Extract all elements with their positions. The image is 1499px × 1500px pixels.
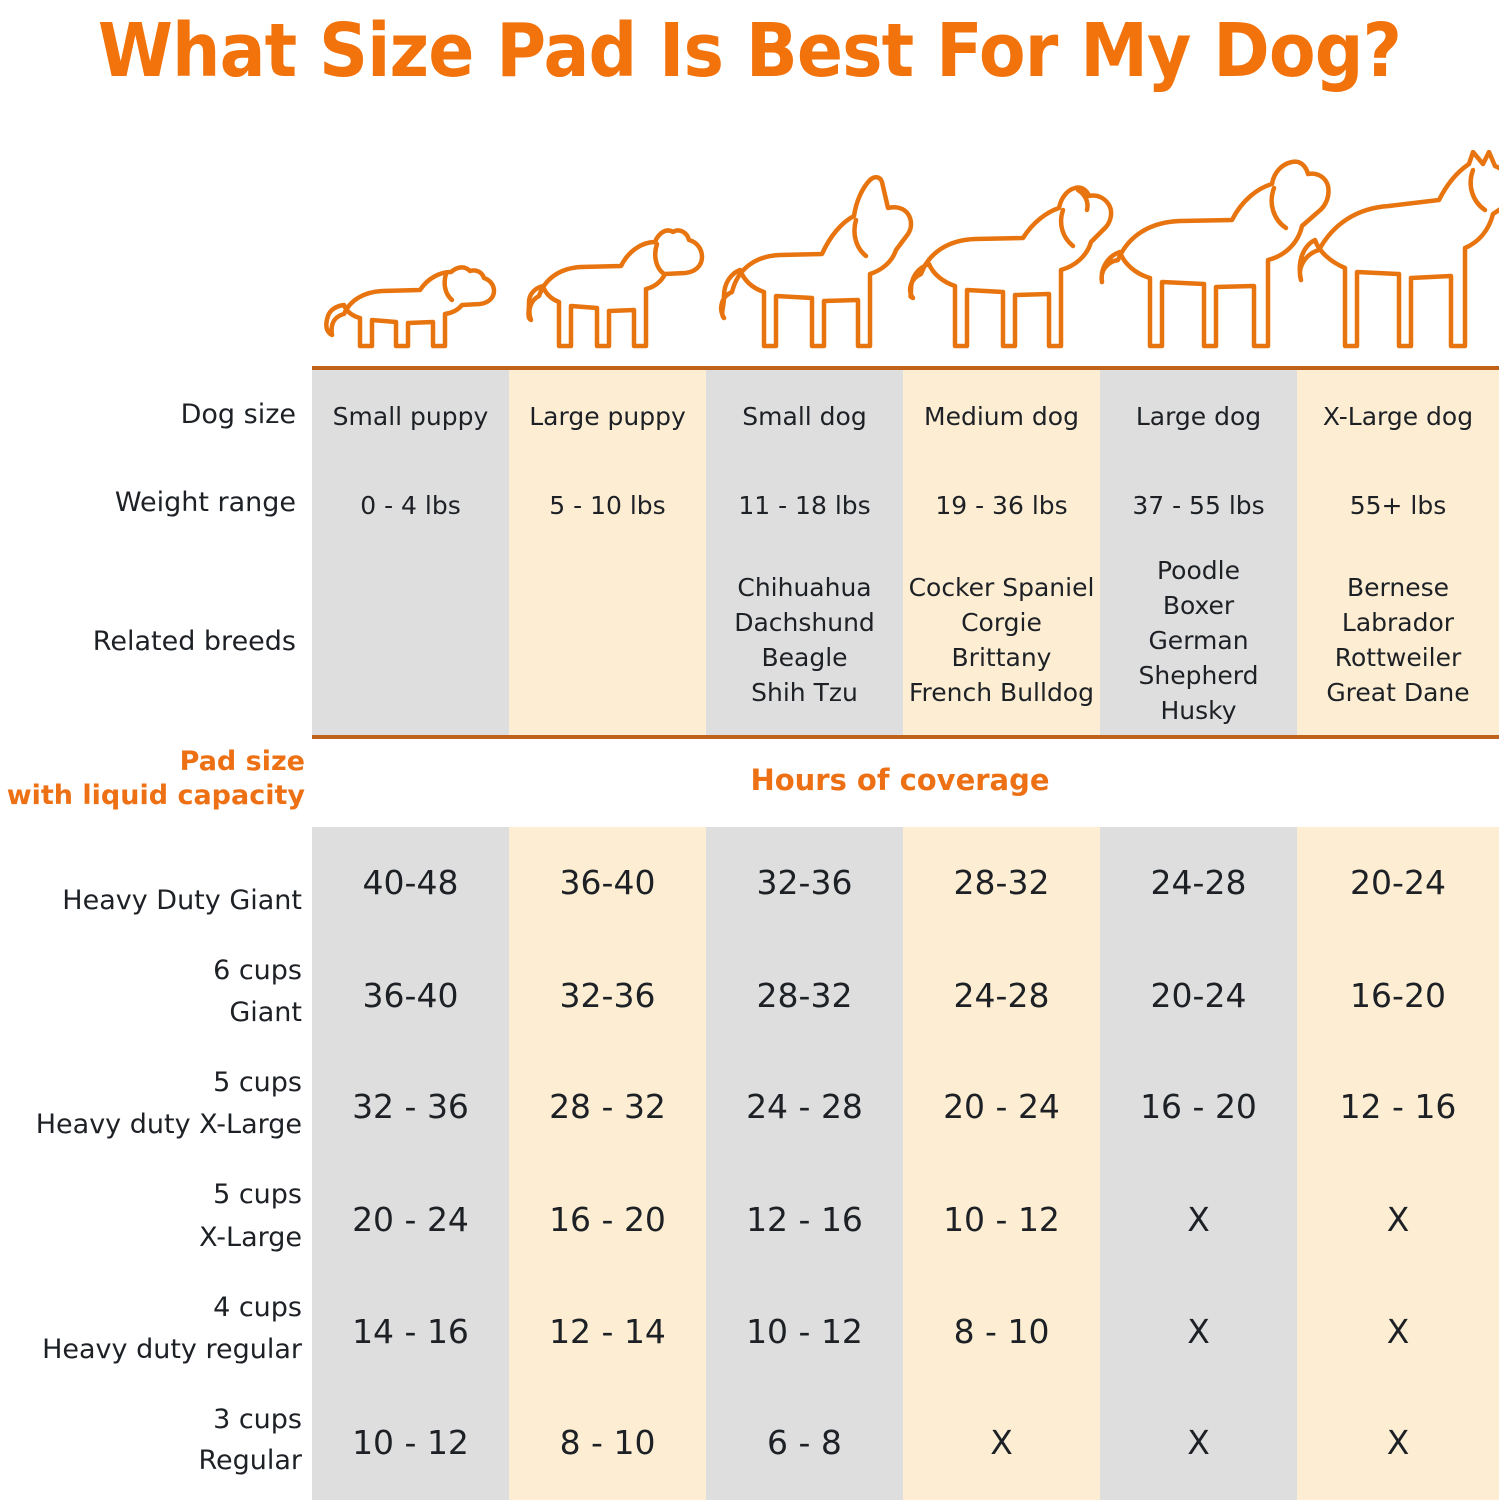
pad-cell-4-0: 14 - 16 [312, 1311, 509, 1353]
section-divider-rule [312, 735, 1499, 739]
pad-size-section-label: Pad size with liquid capacity [0, 745, 305, 813]
column-band2-small-puppy [312, 827, 509, 1500]
pad-cell-3-3: 10 - 12 [903, 1199, 1100, 1241]
pad-cell-5-4: X [1100, 1422, 1297, 1464]
pad-cell-3-2: 12 - 16 [706, 1199, 903, 1241]
pad-cell-0-2: 32-36 [706, 862, 903, 904]
hours-of-coverage-label: Hours of coverage [520, 762, 1280, 798]
pad-cell-5-5: X [1297, 1422, 1499, 1464]
cell-dog-size-small-puppy: Small puppy [312, 400, 509, 433]
row-label-related-breeds: Related breeds [0, 625, 296, 659]
pad-cell-4-1: 12 - 14 [509, 1311, 706, 1353]
cell-dog-size-large-dog: Large dog [1100, 400, 1297, 433]
cell-dog-size-large-puppy: Large puppy [509, 400, 706, 433]
page-title: What Size Pad Is Best For My Dog? [60, 6, 1439, 96]
cell-breeds-large-dog: Poodle Boxer German Shepherd Husky [1100, 553, 1297, 728]
cell-breeds-medium-dog: Cocker Spaniel Corgie Brittany French Bu… [897, 570, 1106, 710]
pad-row-name-0: Heavy Duty Giant [62, 885, 302, 916]
x-large-dog-icon [1300, 152, 1499, 346]
pad-cell-1-5: 16-20 [1297, 975, 1499, 1017]
dog-baseline-rule [312, 366, 1499, 370]
cell-weight-x-large-dog: 55+ lbs [1297, 489, 1499, 522]
pad-cell-0-4: 24-28 [1100, 862, 1297, 904]
small-dog-icon [721, 177, 911, 346]
pad-cell-2-0: 32 - 36 [312, 1086, 509, 1128]
pad-cell-5-3: X [903, 1422, 1100, 1464]
column-band2-small-dog [706, 827, 903, 1500]
pad-cell-0-1: 36-40 [509, 862, 706, 904]
pad-cell-3-4: X [1100, 1199, 1297, 1241]
pad-cell-1-1: 32-36 [509, 975, 706, 1017]
pad-cell-5-2: 6 - 8 [706, 1422, 903, 1464]
cell-dog-size-medium-dog: Medium dog [903, 400, 1100, 433]
pad-cell-1-2: 28-32 [706, 975, 903, 1017]
pad-cell-3-5: X [1297, 1199, 1499, 1241]
pad-cell-2-4: 16 - 20 [1100, 1086, 1297, 1128]
column-band2-large-dog [1100, 827, 1297, 1500]
pad-cell-1-4: 20-24 [1100, 975, 1297, 1017]
pad-row-label-5: Regular 1.5 cups [0, 1408, 302, 1500]
pad-row-name-5: Regular [198, 1445, 302, 1476]
pad-cell-1-3: 24-28 [903, 975, 1100, 1017]
cell-dog-size-small-dog: Small dog [706, 400, 903, 433]
cell-breeds-x-large-dog: Bernese Labrador Rottweiler Great Dane [1297, 570, 1499, 710]
medium-dog-icon [910, 187, 1111, 346]
pad-cell-5-1: 8 - 10 [509, 1422, 706, 1464]
large-dog-icon [1102, 162, 1329, 346]
pad-cell-1-0: 36-40 [312, 975, 509, 1017]
pad-cell-2-3: 20 - 24 [903, 1086, 1100, 1128]
large-puppy-dog-icon [529, 230, 703, 346]
pad-cell-2-1: 28 - 32 [509, 1086, 706, 1128]
pad-cell-4-3: 8 - 10 [903, 1311, 1100, 1353]
pad-row-name-2: Heavy duty X-Large [36, 1109, 302, 1140]
pad-cell-4-5: X [1297, 1311, 1499, 1353]
column-band2-large-puppy [509, 827, 706, 1500]
cell-breeds-small-dog: Chihuahua Dachshund Beagle Shih Tzu [700, 570, 909, 710]
pad-cell-0-3: 28-32 [903, 862, 1100, 904]
cell-weight-small-dog: 11 - 18 lbs [706, 489, 903, 522]
infographic-page: What Size Pad Is Best For My Dog? [0, 0, 1499, 1500]
pad-cell-4-2: 10 - 12 [706, 1311, 903, 1353]
row-label-dog-size: Dog size [0, 398, 296, 432]
pad-cell-0-0: 40-48 [312, 862, 509, 904]
column-band2-x-large-dog [1297, 827, 1499, 1500]
pad-row-name-1: Giant [229, 997, 302, 1028]
row-label-weight-range: Weight range [0, 486, 296, 520]
pad-row-name-3: X-Large [199, 1222, 302, 1253]
pad-cell-3-0: 20 - 24 [312, 1199, 509, 1241]
column-band2-medium-dog [903, 827, 1100, 1500]
pad-cell-0-5: 20-24 [1297, 862, 1499, 904]
cell-weight-small-puppy: 0 - 4 lbs [312, 489, 509, 522]
cell-weight-large-puppy: 5 - 10 lbs [509, 489, 706, 522]
pad-cell-2-5: 12 - 16 [1297, 1086, 1499, 1128]
pad-row-name-4: Heavy duty regular [42, 1334, 302, 1365]
pad-cell-3-1: 16 - 20 [509, 1199, 706, 1241]
pad-cell-4-4: X [1100, 1311, 1297, 1353]
cell-dog-size-x-large-dog: X-Large dog [1297, 400, 1499, 433]
cell-weight-medium-dog: 19 - 36 lbs [903, 489, 1100, 522]
pad-cell-5-0: 10 - 12 [312, 1422, 509, 1464]
dog-silhouette-row [312, 150, 1499, 370]
pad-cell-2-2: 24 - 28 [706, 1086, 903, 1128]
small-puppy-dog-icon [326, 267, 494, 346]
cell-weight-large-dog: 37 - 55 lbs [1100, 489, 1297, 522]
